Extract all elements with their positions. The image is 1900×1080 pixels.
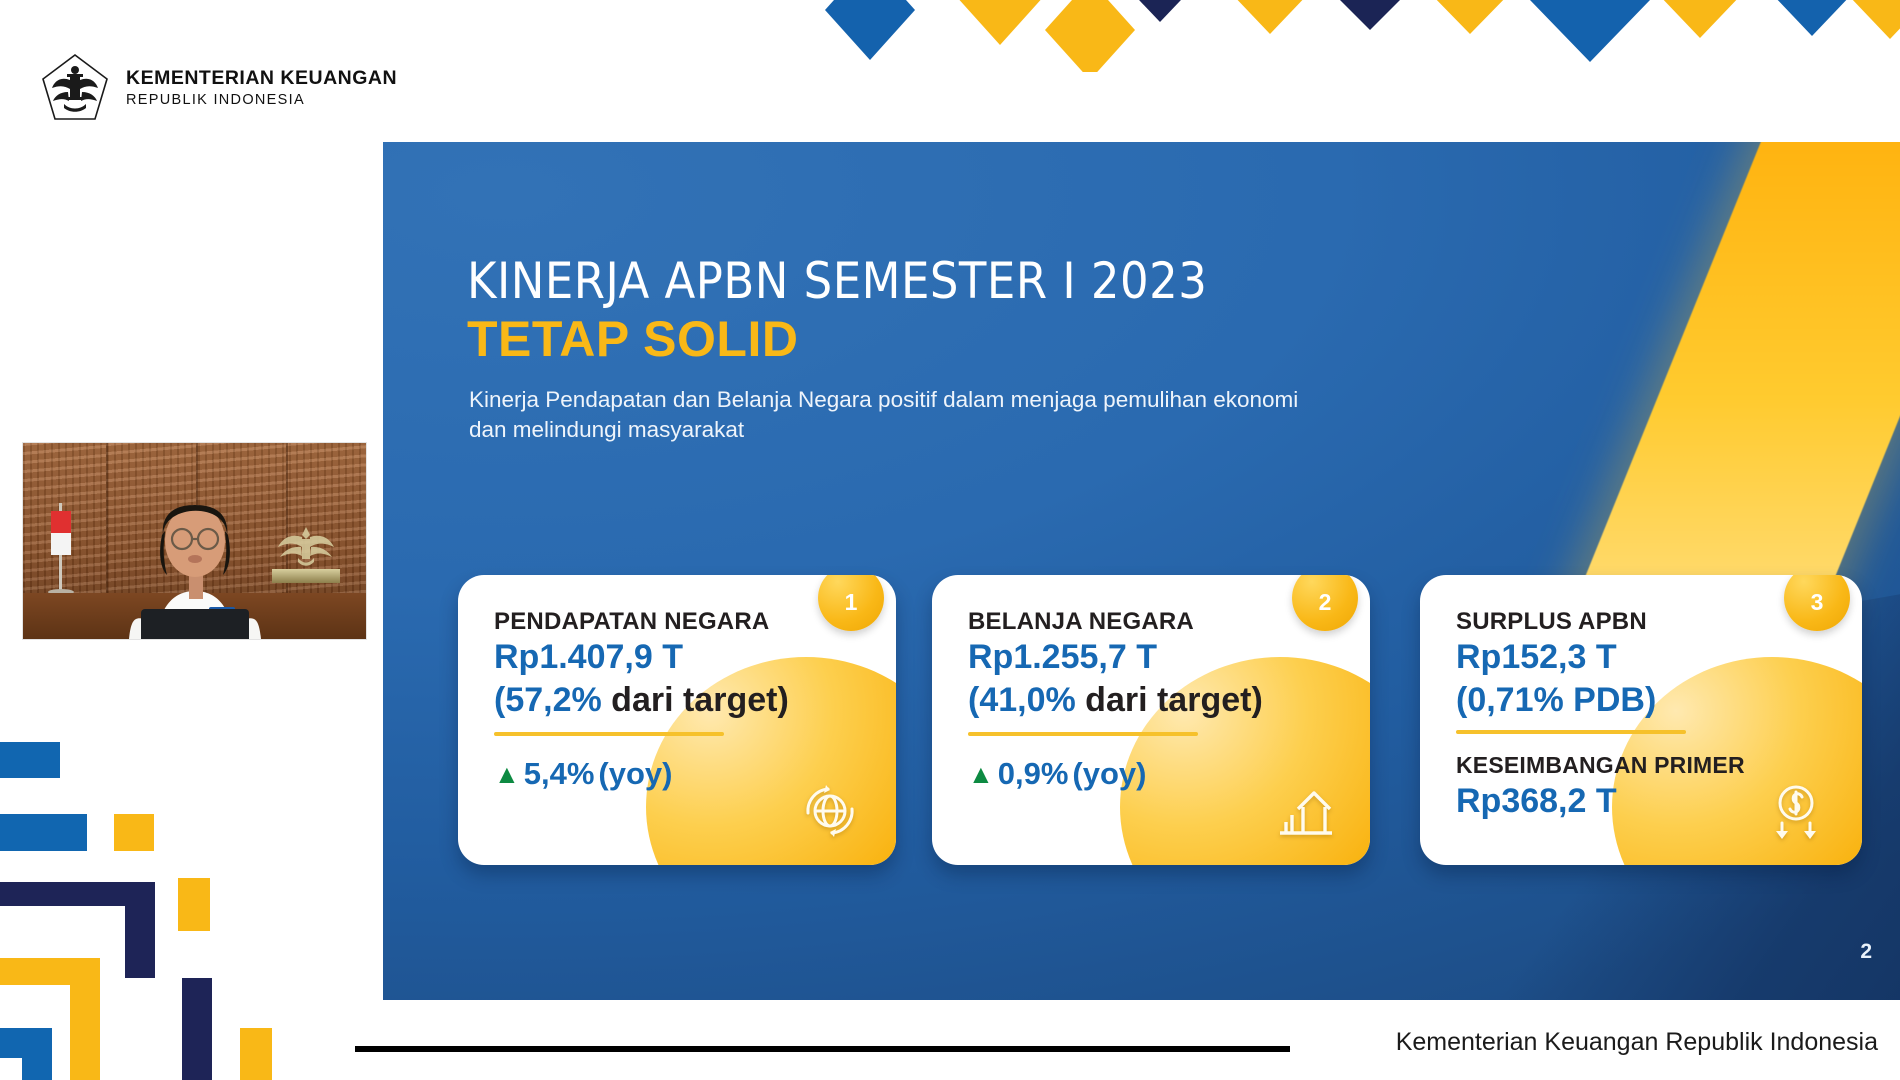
house-bar-chart-icon: [1272, 779, 1336, 843]
ministry-logo-block: KEMENTERIAN KEUANGAN REPUBLIK INDONESIA: [40, 52, 397, 124]
up-triangle-icon: ▲: [494, 761, 520, 787]
card-value: Rp1.407,9 T: [494, 637, 896, 677]
card-divider-rule: [968, 732, 1198, 736]
card-label: PENDAPATAN NEGARA: [494, 609, 896, 635]
up-triangle-icon: ▲: [968, 761, 994, 787]
card-percent: (57,2%: [494, 681, 602, 719]
card-percent-tail: dari target): [602, 681, 789, 719]
logo-text: KEMENTERIAN KEUANGAN REPUBLIK INDONESIA: [126, 68, 397, 108]
card-yoy-value: 5,4%: [524, 756, 595, 792]
slide-title-line2: TETAP SOLID: [467, 310, 798, 368]
slide-subtitle: Kinerja Pendapatan dan Belanja Negara po…: [469, 385, 1299, 445]
garuda-pentagon-emblem-icon: [40, 52, 110, 124]
card-label: SURPLUS APBN: [1456, 609, 1862, 635]
slide-page-number: 2: [1860, 940, 1872, 964]
card-percent: (0,71% PDB): [1456, 680, 1862, 720]
block-pattern-svg: [0, 710, 300, 1080]
card-percent: (41,0%: [968, 681, 1076, 719]
card-label: BELANJA NEGARA: [968, 609, 1370, 635]
stat-card-pendapatan-negara[interactable]: 1 PENDAPATAN NEGARA Rp1.407,9 T (57,2% d…: [458, 575, 896, 865]
card-yoy-note: (yoy): [1072, 756, 1146, 792]
stat-card-surplus-apbn[interactable]: 3 SURPLUS APBN Rp152,3 T (0,71% PDB) KES…: [1420, 575, 1862, 865]
org-name: KEMENTERIAN KEUANGAN: [126, 68, 397, 88]
laptop-icon: [141, 609, 249, 639]
card-divider-rule: [494, 732, 724, 736]
card-secondary-label: KESEIMBANGAN PRIMER: [1456, 752, 1862, 779]
card-percent-tail: dari target): [1076, 681, 1263, 719]
card-value: Rp152,3 T: [1456, 637, 1862, 677]
footer-divider-line: [355, 1046, 1290, 1052]
footer-organization-text: Kementerian Keuangan Republik Indonesia: [1396, 1028, 1878, 1057]
card-value-percent-row: (57,2% dari target): [494, 680, 896, 720]
card-value: Rp1.255,7 T: [968, 637, 1370, 677]
stat-card-belanja-negara[interactable]: 2 BELANJA NEGARA Rp1.255,7 T (41,0% dari…: [932, 575, 1370, 865]
garuda-emblem-icon: [276, 525, 336, 567]
org-subname: REPUBLIK INDONESIA: [126, 93, 397, 108]
card-value-percent-row: (41,0% dari target): [968, 680, 1370, 720]
presenter-video-tile[interactable]: [22, 442, 367, 640]
slide-title-line1: KINERJA APBN SEMESTER I 2023: [467, 252, 1207, 310]
globe-refresh-icon: [798, 779, 862, 843]
card-yoy-value: 0,9%: [998, 756, 1069, 792]
indonesia-flag-icon: [51, 511, 71, 555]
bottom-left-block-decoration: [0, 710, 300, 1080]
dollar-coin-down-arrows-icon: [1764, 779, 1828, 843]
card-yoy-note: (yoy): [598, 756, 672, 792]
presentation-slide[interactable]: KINERJA APBN SEMESTER I 2023 TETAP SOLID…: [383, 142, 1900, 1000]
card-divider-rule: [1456, 730, 1686, 734]
